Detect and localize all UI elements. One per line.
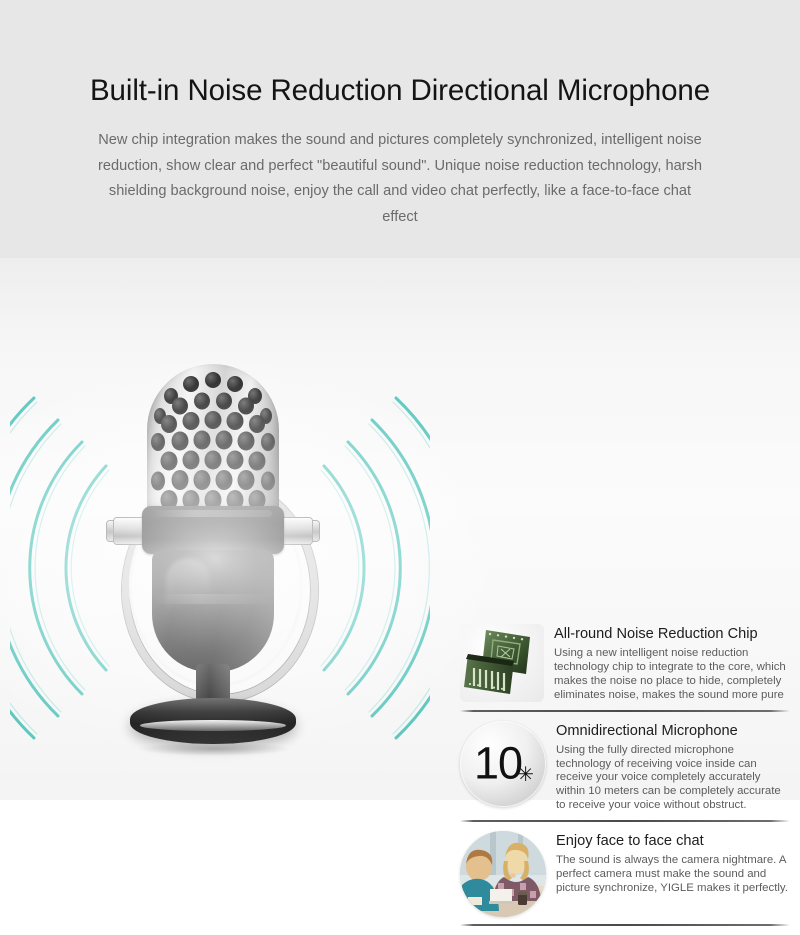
feature-description: Using a new intelligent noise reduction … [554, 647, 790, 703]
noise-reduction-chip-icon [460, 624, 544, 702]
feature-divider [460, 820, 790, 822]
feature-divider-bottom [460, 924, 790, 926]
feature-text: All-round Noise Reduction Chip Using a n… [554, 624, 790, 703]
microphone-collar-highlight [152, 510, 272, 517]
feature-item-face-to-face-chat: Enjoy face to face chat The sound is alw… [460, 831, 790, 917]
mesh-holes-pattern-icon [147, 364, 279, 514]
microphone-illustration [10, 358, 430, 778]
feature-title: Omnidirectional Microphone [556, 723, 790, 740]
feature-divider [460, 710, 790, 712]
circuit-chip-graphic [460, 624, 544, 702]
feature-thumbnail [460, 624, 544, 702]
microphone-base-band [140, 720, 286, 731]
microphone-knob-left [114, 518, 144, 544]
feature-thumbnail: 10 ✳ [460, 721, 546, 807]
feature-text: Enjoy face to face chat The sound is alw… [556, 831, 790, 896]
feature-item-omnidirectional-microphone: 10 ✳ Omnidirectional Microphone Using th… [460, 721, 790, 814]
ten-meter-badge-icon: 10 ✳ [460, 721, 546, 807]
feature-title: All-round Noise Reduction Chip [554, 626, 790, 643]
asterisk-icon: ✳ [517, 765, 534, 785]
two-people-chatting-graphic [460, 831, 546, 917]
face-to-face-chat-photo-icon [460, 831, 546, 917]
feature-list: All-round Noise Reduction Chip Using a n… [460, 624, 790, 935]
feature-text: Omnidirectional Microphone Using the ful… [556, 721, 790, 814]
microphone-body-gloss [166, 558, 210, 630]
page-title: Built-in Noise Reduction Directional Mic… [0, 74, 800, 108]
feature-description: The sound is always the camera nightmare… [556, 854, 790, 896]
microphone-base-shadow [136, 742, 292, 756]
feature-thumbnail [460, 831, 546, 917]
page-subtitle: New chip integration makes the sound and… [90, 128, 710, 230]
content-section: All-round Noise Reduction Chip Using a n… [0, 258, 800, 800]
header-section: Built-in Noise Reduction Directional Mic… [0, 0, 800, 258]
feature-description: Using the fully directed microphone tech… [556, 744, 790, 814]
microphone-body-group [118, 358, 308, 778]
feature-title: Enjoy face to face chat [556, 833, 790, 850]
product-feature-banner: Built-in Noise Reduction Directional Mic… [0, 0, 800, 800]
feature-item-noise-reduction-chip: All-round Noise Reduction Chip Using a n… [460, 624, 790, 703]
microphone-mesh-dome [147, 364, 279, 514]
microphone-knob-right [282, 518, 312, 544]
